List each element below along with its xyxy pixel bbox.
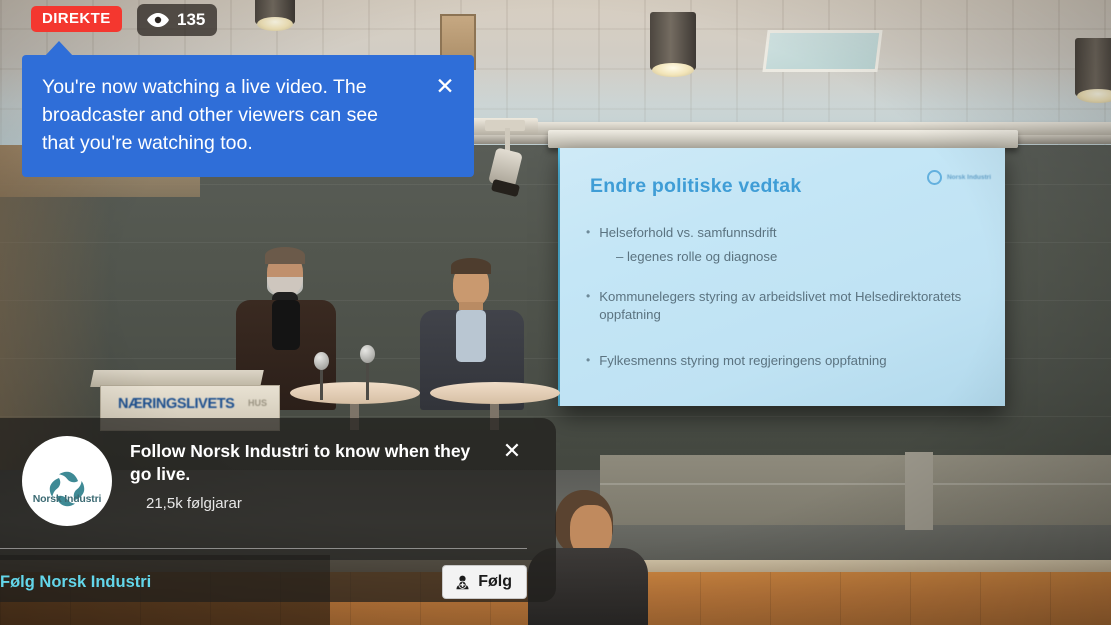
rear-wall-seam <box>600 483 1111 485</box>
slide-logo: Norsk Industri <box>927 170 991 185</box>
close-icon[interactable]: ✕ <box>500 440 524 464</box>
follow-card-title: Follow Norsk Industri to know when they … <box>130 440 492 486</box>
microphone-stem <box>366 363 369 400</box>
microphone-head <box>360 345 375 363</box>
norsk-industri-logo-icon <box>44 466 90 517</box>
rear-wall-column <box>905 452 933 530</box>
norsk-industri-ring-icon <box>927 170 942 185</box>
close-icon[interactable]: ✕ <box>432 74 458 100</box>
avatar[interactable]: Norsk Industri <box>22 436 112 526</box>
slide-bullet: • Helseforhold vs. samfunnsdrift <box>586 224 986 242</box>
speaker-right-hair <box>451 258 491 274</box>
tooltip-message: You're now watching a live video. The br… <box>42 73 414 157</box>
microphone-stem <box>320 370 323 400</box>
round-table-right <box>430 382 560 404</box>
speaker-left-hair <box>265 247 305 264</box>
speaker-right-shirt <box>456 310 486 362</box>
bullet-dot-icon: • <box>586 352 590 370</box>
speaker-left-shirt <box>272 300 300 350</box>
projection-screen: Norsk Industri Endre politiske vedtak • … <box>560 148 1005 406</box>
slide-logo-text: Norsk Industri <box>947 174 991 181</box>
pendant-lamp <box>1075 38 1111 96</box>
live-video-player: Norsk Industri Endre politiske vedtak • … <box>0 0 1111 625</box>
follower-count: 21,5k følgjarar <box>146 495 492 512</box>
live-badge: DIREKTE <box>31 6 122 32</box>
rear-wall-panel <box>600 455 1111 525</box>
avatar-label: Norsk Industri <box>22 493 112 505</box>
round-table-left <box>290 382 420 404</box>
projection-screen-case <box>548 130 1018 148</box>
slide-bullet-text: Fylkesmenns styring mot regjeringens opp… <box>599 352 886 370</box>
pendant-lamp <box>255 0 295 24</box>
follow-page-card: ✕ Norsk Industri Follow Norsk In <box>0 418 556 602</box>
slide-bullet-sub: – legenes rolle og diagnose <box>616 248 986 266</box>
slide-title: Endre politiske vedtak <box>590 175 801 198</box>
viewer-count-pill: 135 <box>137 4 217 36</box>
follow-button[interactable]: Følg <box>442 565 527 599</box>
live-watching-tooltip: You're now watching a live video. The br… <box>22 55 474 177</box>
slide-bullets: • Helseforhold vs. samfunnsdrift – legen… <box>586 224 986 376</box>
lectern-text-secondary: HUS <box>248 398 267 408</box>
slide-bullet: • Fylkesmenns styring mot regjeringens o… <box>586 352 986 370</box>
pendant-lamp <box>650 12 696 70</box>
lectern-text: NÆRINGSLIVETS <box>118 396 234 412</box>
slide-bullet-text: Kommunelegers styring av arbeidslivet mo… <box>599 288 986 324</box>
follow-button-label: Følg <box>478 573 512 591</box>
follow-page-link[interactable]: Følg Norsk Industri <box>0 573 151 592</box>
ceiling-light-panel <box>762 30 882 72</box>
add-person-icon <box>454 574 471 591</box>
microphone-head <box>314 352 329 370</box>
microphone <box>360 345 375 400</box>
slide-bullet-text: Helseforhold vs. samfunnsdrift <box>599 224 776 242</box>
bullet-dot-icon: • <box>586 224 590 242</box>
slide-bullet: • Kommunelegers styring av arbeidslivet … <box>586 288 986 324</box>
eye-icon <box>147 13 169 27</box>
bullet-dot-icon: • <box>586 288 590 324</box>
microphone <box>314 352 329 400</box>
viewer-count-value: 135 <box>177 10 205 30</box>
divider <box>0 548 527 549</box>
